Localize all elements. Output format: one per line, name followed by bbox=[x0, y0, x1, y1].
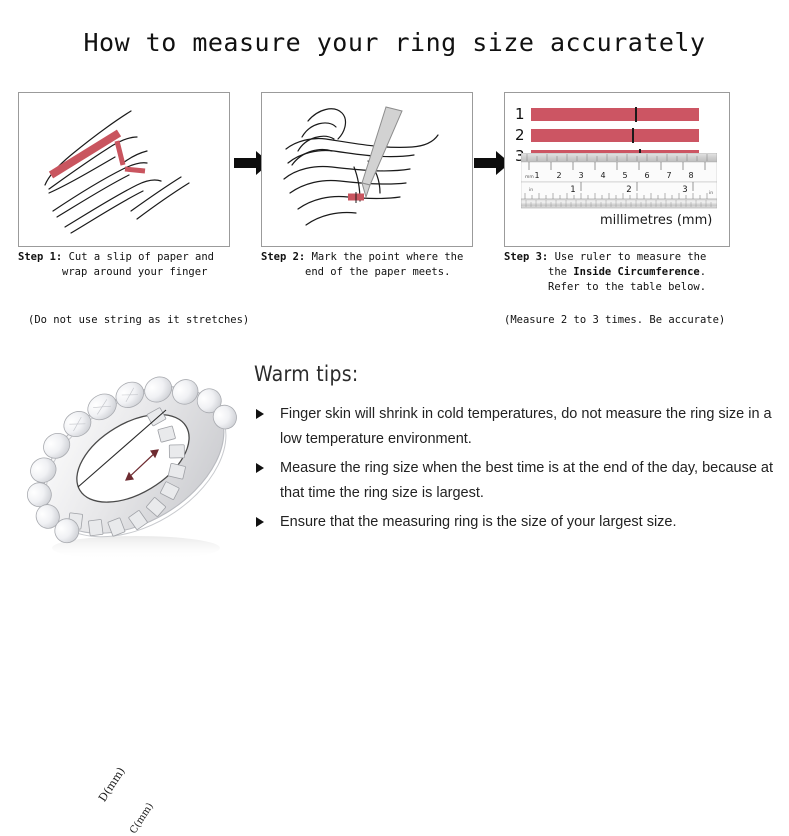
warm-tip-item: Measure the ring size when the best time… bbox=[254, 456, 774, 506]
warm-tips-section: Warm tips: Finger skin will shrink in co… bbox=[254, 362, 774, 539]
svg-text:7: 7 bbox=[666, 171, 671, 180]
svg-text:2: 2 bbox=[626, 185, 631, 195]
strip-number: 2 bbox=[515, 126, 531, 144]
warm-tips-heading: Warm tips: bbox=[254, 362, 774, 386]
svg-text:in: in bbox=[529, 187, 533, 193]
step-1-text-line1: Cut a slip of paper and bbox=[62, 251, 214, 263]
svg-text:2: 2 bbox=[556, 171, 561, 180]
svg-text:in: in bbox=[709, 190, 713, 196]
ring-diameter-label: D(mm) bbox=[96, 765, 128, 804]
svg-text:4: 4 bbox=[600, 171, 605, 180]
step-1-label: Step 1: bbox=[18, 251, 62, 263]
steps-row: 1 2 3 bbox=[18, 92, 770, 160]
svg-text:1: 1 bbox=[570, 185, 575, 195]
step-2-illustration-panel bbox=[261, 92, 473, 247]
step-1-note: (Do not use string as it stretches) bbox=[28, 314, 249, 326]
hand-with-pen-marking-icon bbox=[262, 93, 472, 246]
eternity-ring-photo-icon bbox=[18, 352, 250, 577]
step-1-caption: Step 1: Cut a slip of paper and wrap aro… bbox=[18, 250, 243, 280]
measure-strip-row: 1 bbox=[515, 105, 715, 123]
svg-text:1: 1 bbox=[534, 171, 539, 180]
measure-strip-row: 2 bbox=[515, 126, 715, 144]
svg-text:8: 8 bbox=[688, 171, 693, 180]
svg-text:3: 3 bbox=[682, 185, 687, 195]
step-3-text-line1: Use ruler to measure the bbox=[548, 251, 706, 263]
step-2-text-line1: Mark the point where the bbox=[305, 251, 463, 263]
step-2-caption: Step 2: Mark the point where the end of … bbox=[261, 250, 486, 280]
warm-tip-text: Finger skin will shrink in cold temperat… bbox=[280, 406, 772, 447]
hand-with-paper-strip-icon bbox=[19, 93, 229, 246]
step-3-illustration-panel: 1 2 3 bbox=[504, 92, 730, 247]
inside-circumference-emphasis: Inside Circumference bbox=[573, 266, 699, 278]
strip-mark bbox=[632, 128, 634, 143]
ring-diagram: D(mm) C(mm) bbox=[18, 352, 250, 577]
paper-strip bbox=[531, 129, 699, 142]
step-3-text-line2: the Inside Circumference. bbox=[504, 265, 754, 280]
page-title: How to measure your ring size accurately bbox=[0, 28, 789, 57]
triangle-bullet-icon bbox=[256, 463, 264, 473]
svg-text:mm: mm bbox=[525, 175, 534, 180]
step-1-text-line2: wrap around your finger bbox=[18, 265, 243, 280]
triangle-bullet-icon bbox=[256, 517, 264, 527]
strip-number: 1 bbox=[515, 105, 531, 123]
svg-text:6: 6 bbox=[644, 171, 649, 180]
strip-mark bbox=[635, 107, 637, 122]
ring-size-guide-page: How to measure your ring size accurately bbox=[0, 0, 789, 606]
svg-text:5: 5 bbox=[622, 171, 627, 180]
warm-tip-item: Ensure that the measuring ring is the si… bbox=[254, 510, 774, 535]
step-2-text-line2: end of the paper meets. bbox=[261, 265, 486, 280]
step-3-text-line3: Refer to the table below. bbox=[504, 280, 754, 295]
step-2-label: Step 2: bbox=[261, 251, 305, 263]
triangle-bullet-icon bbox=[256, 409, 264, 419]
svg-text:3: 3 bbox=[578, 171, 583, 180]
step-3-label: Step 3: bbox=[504, 251, 548, 263]
ring-circumference-label: C(mm) bbox=[128, 801, 156, 836]
paper-strip bbox=[531, 108, 699, 121]
ruler-unit-label: millimetres (mm) bbox=[600, 213, 712, 228]
step-3-note: (Measure 2 to 3 times. Be accurate) bbox=[504, 314, 725, 326]
warm-tip-item: Finger skin will shrink in cold temperat… bbox=[254, 402, 774, 452]
step-1-illustration-panel bbox=[18, 92, 230, 247]
ruler-graphic: 12 34 56 78 mm 123 in in bbox=[521, 153, 717, 209]
step-3-line2-pre: the bbox=[548, 266, 573, 278]
warm-tip-text: Measure the ring size when the best time… bbox=[280, 460, 773, 501]
step-3-caption: Step 3: Use ruler to measure the the Ins… bbox=[504, 250, 754, 295]
step-3-line2-post: . bbox=[700, 266, 706, 278]
warm-tip-text: Ensure that the measuring ring is the si… bbox=[280, 514, 677, 530]
